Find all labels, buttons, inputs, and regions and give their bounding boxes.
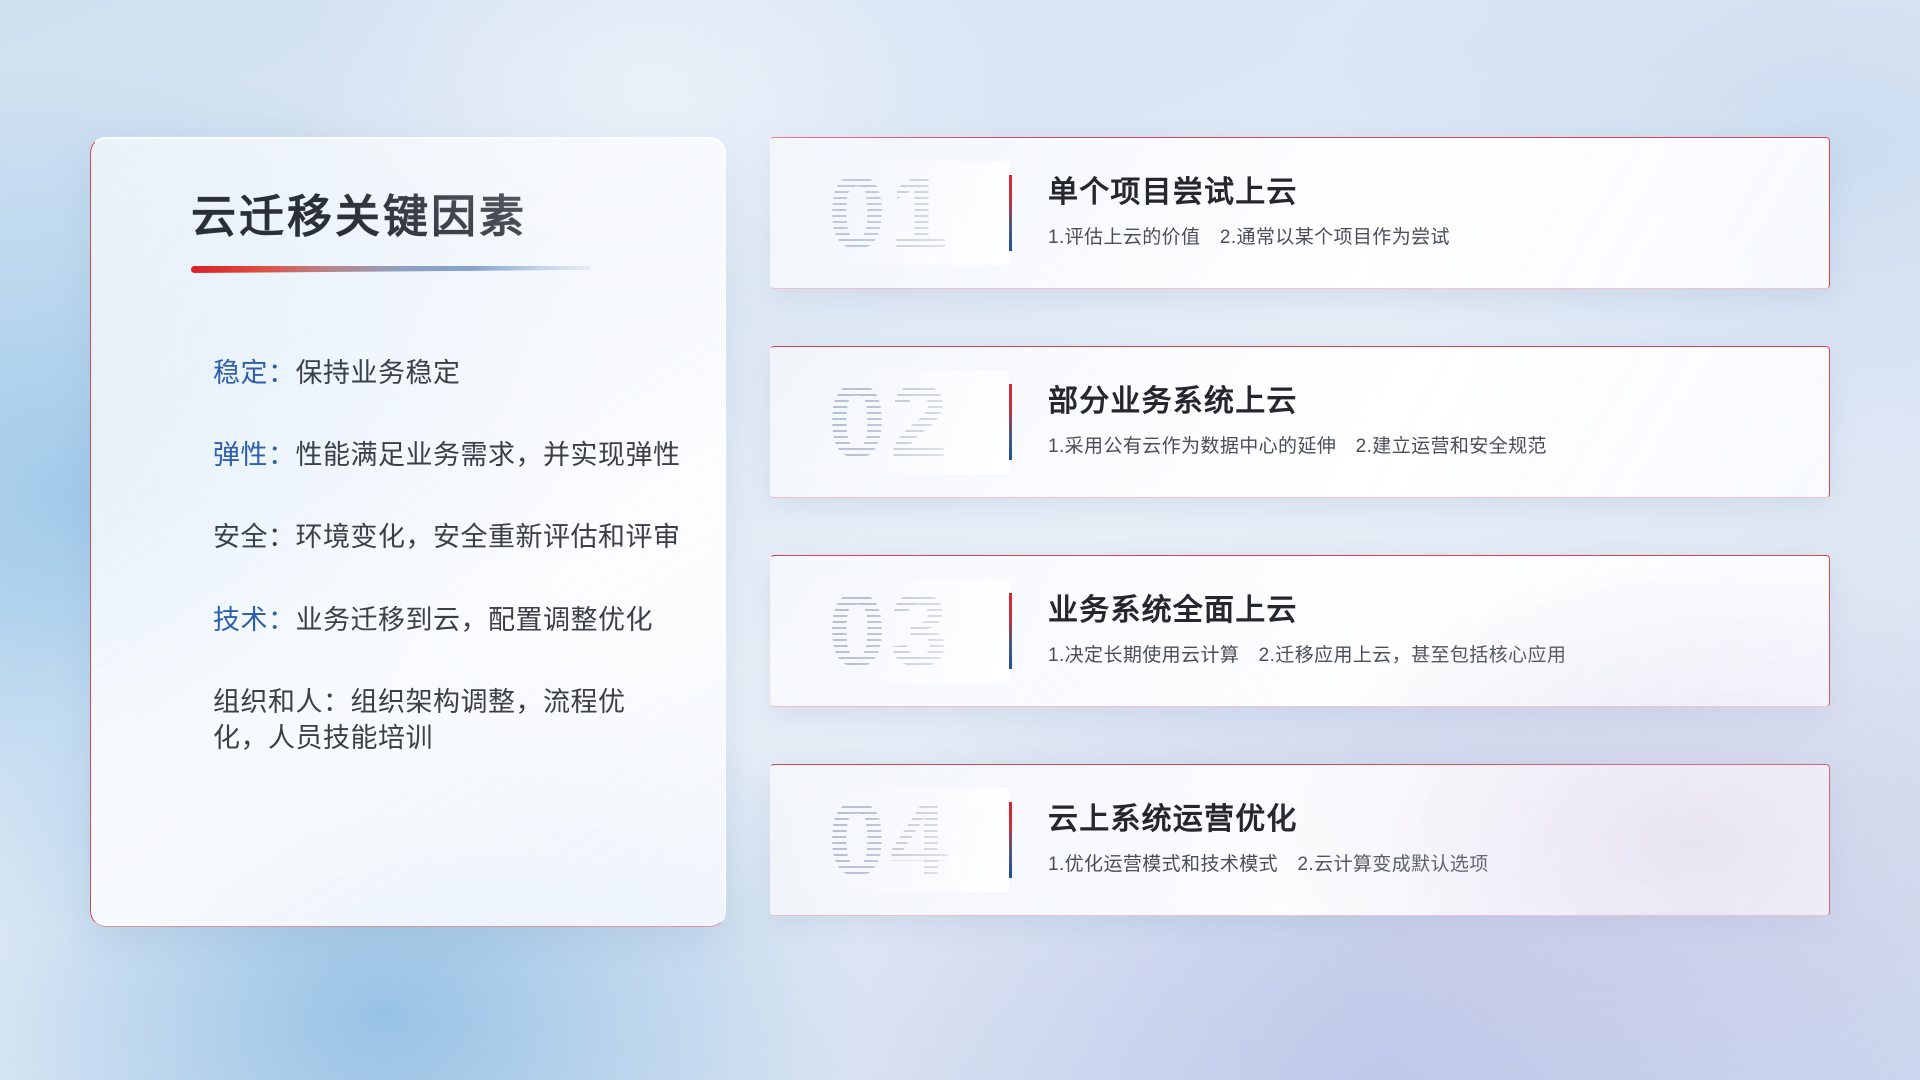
factor-item: 组织和人：组织架构调整，流程优化，人员技能培训 — [213, 684, 673, 756]
stage-description: 1.优化运营模式和技术模式 2.云计算变成默认选项 — [1048, 852, 1805, 879]
stage-body: 云上系统运营优化 1.优化运营模式和技术模式 2.云计算变成默认选项 — [1048, 801, 1829, 879]
stage-card[interactable]: 03 业务系统全面上云 1.决定长期使用云计算 2.迁移应用上云，甚至包括核心应… — [770, 555, 1830, 707]
title-underline-rule — [191, 266, 591, 273]
stage-title: 业务系统全面上云 — [1048, 592, 1805, 630]
factor-list: 稳定：保持业务稳定 弹性：性能满足业务需求，并实现弹性 安全：环境变化，安全重新… — [91, 355, 725, 756]
stage-description: 1.决定长期使用云计算 2.迁移应用上云，甚至包括核心应用 — [1048, 643, 1805, 670]
stage-title: 单个项目尝试上云 — [1048, 174, 1805, 212]
key-factors-panel: 云迁移关键因素 稳定：保持业务稳定 弹性：性能满足业务需求，并实现弹性 安全：环… — [90, 137, 726, 927]
factor-text: 环境变化，安全重新评估和评审 — [296, 522, 681, 552]
stage-divider — [1009, 175, 1012, 251]
factor-label: 技术： — [213, 605, 296, 635]
stage-number: 02 — [771, 370, 1009, 474]
factor-item: 稳定：保持业务稳定 — [213, 355, 673, 391]
stage-body: 部分业务系统上云 1.采用公有云作为数据中心的延伸 2.建立运营和安全规范 — [1048, 383, 1829, 461]
factor-item: 安全：环境变化，安全重新评估和评审 — [213, 519, 673, 555]
stage-title: 云上系统运营优化 — [1048, 801, 1805, 839]
panel-title: 云迁移关键因素 — [191, 190, 725, 244]
slide-canvas: 云迁移关键因素 稳定：保持业务稳定 弹性：性能满足业务需求，并实现弹性 安全：环… — [0, 0, 1920, 1080]
stage-divider — [1009, 593, 1012, 669]
stage-card[interactable]: 01 单个项目尝试上云 1.评估上云的价值 2.通常以某个项目作为尝试 — [770, 137, 1830, 289]
factor-text: 业务迁移到云，配置调整优化 — [296, 605, 654, 635]
factor-label: 稳定： — [213, 358, 296, 388]
stage-description: 1.采用公有云作为数据中心的延伸 2.建立运营和安全规范 — [1048, 434, 1805, 461]
stage-body: 业务系统全面上云 1.决定长期使用云计算 2.迁移应用上云，甚至包括核心应用 — [1048, 592, 1829, 670]
stage-card[interactable]: 04 云上系统运营优化 1.优化运营模式和技术模式 2.云计算变成默认选项 — [770, 764, 1830, 916]
stage-divider — [1009, 802, 1012, 878]
factor-text: 保持业务稳定 — [296, 358, 461, 388]
factor-label: 安全： — [213, 522, 296, 552]
stage-number: 03 — [771, 579, 1009, 683]
stage-divider — [1009, 384, 1012, 460]
stage-description: 1.评估上云的价值 2.通常以某个项目作为尝试 — [1048, 225, 1805, 252]
stage-title: 部分业务系统上云 — [1048, 383, 1805, 421]
factor-label: 弹性： — [213, 440, 296, 470]
factor-text: 性能满足业务需求，并实现弹性 — [296, 440, 681, 470]
factor-label: 组织和人： — [213, 687, 351, 717]
stage-card-list: 01 单个项目尝试上云 1.评估上云的价值 2.通常以某个项目作为尝试 02 部… — [770, 137, 1830, 916]
stage-number: 04 — [771, 788, 1009, 892]
factor-item: 技术：业务迁移到云，配置调整优化 — [213, 602, 673, 638]
stage-body: 单个项目尝试上云 1.评估上云的价值 2.通常以某个项目作为尝试 — [1048, 174, 1829, 252]
stage-card[interactable]: 02 部分业务系统上云 1.采用公有云作为数据中心的延伸 2.建立运营和安全规范 — [770, 346, 1830, 498]
stage-number: 01 — [771, 161, 1009, 265]
factor-item: 弹性：性能满足业务需求，并实现弹性 — [213, 437, 673, 473]
slide-content: 云迁移关键因素 稳定：保持业务稳定 弹性：性能满足业务需求，并实现弹性 安全：环… — [0, 0, 1920, 1080]
